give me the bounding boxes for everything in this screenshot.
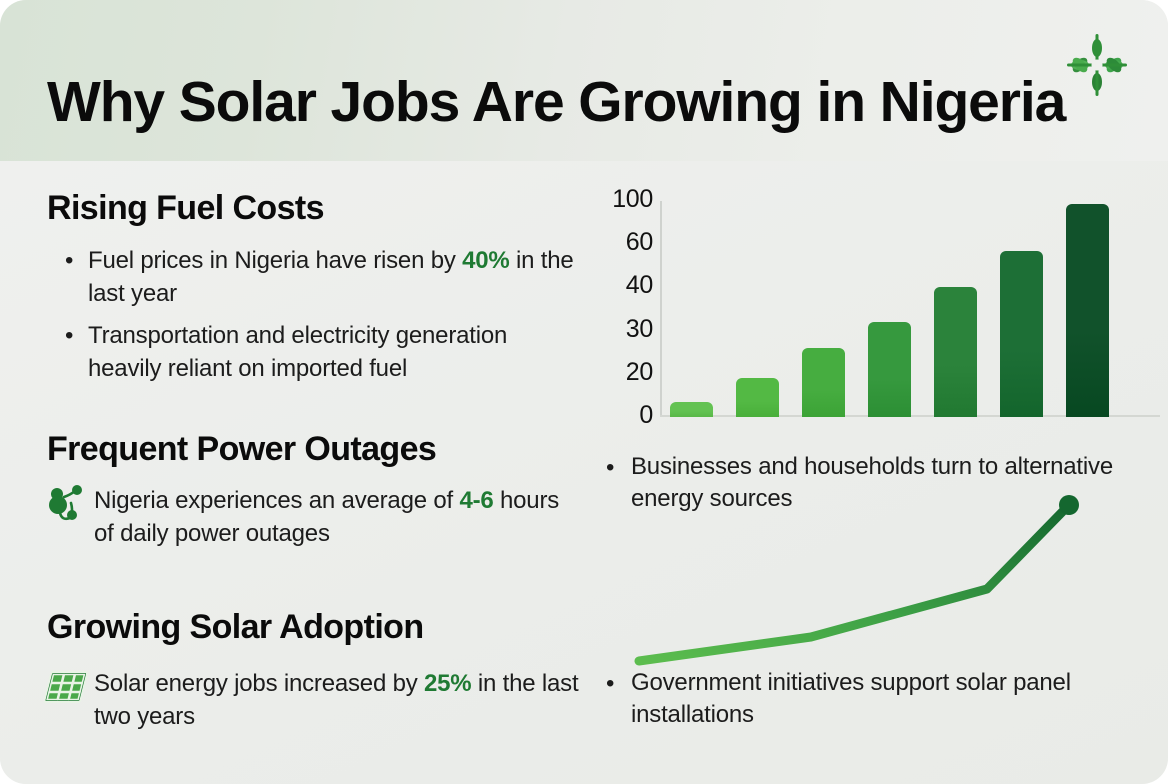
bar-chart-bar bbox=[736, 378, 779, 417]
left-column: Rising Fuel Costs • Fuel prices in Niger… bbox=[0, 161, 585, 784]
infographic-slide: Why Solar Jobs Are Growing in Nigeria bbox=[0, 0, 1168, 784]
line-chart-series bbox=[639, 505, 1069, 661]
bar-chart-bar bbox=[1066, 204, 1109, 417]
bar-chart-y-tick: 0 bbox=[595, 401, 653, 430]
bar-chart-y-tick: 100 bbox=[595, 185, 653, 214]
list-item-text: Fuel prices in Nigeria have risen by 40%… bbox=[88, 244, 582, 310]
section-heading-growing-solar-adoption: Growing Solar Adoption bbox=[47, 608, 424, 647]
list-item: • Transportation and electricity generat… bbox=[62, 319, 582, 385]
bar-chart: 100604030200 bbox=[585, 179, 1168, 439]
list-item-text-pre: Solar energy jobs increased by bbox=[94, 670, 424, 697]
bullet-dot-icon: • bbox=[603, 667, 631, 700]
bar-chart-bar bbox=[802, 348, 845, 417]
section-heading-rising-fuel-costs: Rising Fuel Costs bbox=[47, 189, 324, 228]
bar-chart-y-tick: 30 bbox=[595, 315, 653, 344]
line-chart-end-marker bbox=[1059, 495, 1079, 515]
bar-chart-bars bbox=[661, 201, 1161, 417]
bar-chart-bar bbox=[868, 322, 911, 417]
list-item-text-pre: Fuel prices in Nigeria have risen by bbox=[88, 247, 462, 274]
list-item-text: Nigeria experiences an average of 4-6 ho… bbox=[94, 483, 584, 550]
highlight-value: 40% bbox=[462, 247, 509, 274]
list-item: Solar energy jobs increased by 25% in th… bbox=[44, 666, 584, 733]
line-chart bbox=[625, 481, 1145, 681]
list-item: • Government initiatives support solar p… bbox=[603, 667, 1133, 731]
green-sunburst-flower-logo-icon bbox=[1065, 32, 1129, 98]
highlight-value: 4-6 bbox=[459, 487, 493, 514]
bar-chart-bar bbox=[1000, 251, 1043, 417]
right-column: 100604030200 • Businesses and households… bbox=[585, 161, 1168, 784]
bar-chart-bar bbox=[934, 287, 977, 417]
network-nodes-icon bbox=[44, 483, 94, 527]
page-title: Why Solar Jobs Are Growing in Nigeria bbox=[47, 69, 1065, 135]
solar-panel-icon bbox=[44, 666, 94, 710]
list-item: Nigeria experiences an average of 4-6 ho… bbox=[44, 483, 584, 550]
section-heading-frequent-power-outages: Frequent Power Outages bbox=[47, 430, 436, 469]
list-item-text: Solar energy jobs increased by 25% in th… bbox=[94, 666, 584, 733]
list-item-text: Government initiatives support solar pan… bbox=[631, 667, 1133, 731]
highlight-value: 25% bbox=[424, 670, 471, 697]
bullet-dot-icon: • bbox=[62, 319, 88, 352]
bar-chart-bar bbox=[670, 402, 713, 417]
bar-chart-y-tick: 20 bbox=[595, 358, 653, 387]
list-item: • Fuel prices in Nigeria have risen by 4… bbox=[62, 244, 582, 310]
list-item-text-pre: Nigeria experiences an average of bbox=[94, 487, 459, 514]
bar-chart-y-tick: 60 bbox=[595, 228, 653, 257]
bullet-dot-icon: • bbox=[603, 451, 631, 484]
bar-chart-y-axis-labels: 100604030200 bbox=[585, 179, 653, 439]
header-band: Why Solar Jobs Are Growing in Nigeria bbox=[0, 0, 1168, 161]
bar-chart-y-tick: 40 bbox=[595, 271, 653, 300]
list-item-text: Transportation and electricity generatio… bbox=[88, 319, 582, 385]
bullet-dot-icon: • bbox=[62, 244, 88, 277]
